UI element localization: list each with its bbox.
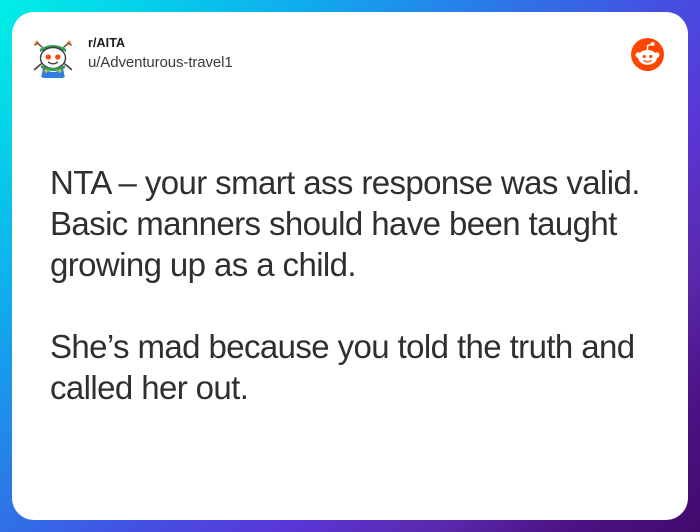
reddit-post-card: r/AITA u/Adventurous-travel1 NTA – your … bbox=[12, 12, 688, 520]
reddit-logo-icon[interactable] bbox=[631, 38, 664, 71]
subreddit-name[interactable]: r/AITA bbox=[88, 35, 233, 51]
post-body: NTA – your smart ass response was valid.… bbox=[50, 162, 658, 408]
post-meta: r/AITA u/Adventurous-travel1 bbox=[88, 35, 233, 72]
username[interactable]: u/Adventurous-travel1 bbox=[88, 53, 233, 72]
post-paragraph-2: She’s mad because you told the truth and… bbox=[50, 326, 658, 408]
post-header: r/AITA u/Adventurous-travel1 bbox=[12, 12, 688, 90]
snoo-avatar-icon[interactable] bbox=[30, 34, 76, 80]
post-paragraph-1: NTA – your smart ass response was valid.… bbox=[50, 162, 658, 285]
